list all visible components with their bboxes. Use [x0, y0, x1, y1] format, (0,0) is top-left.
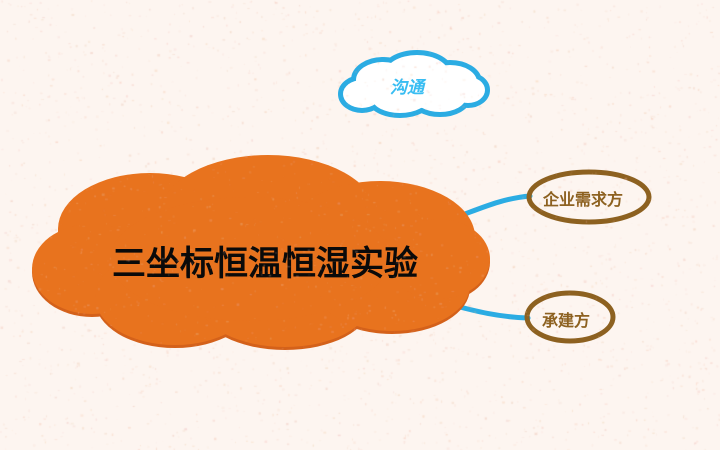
mindmap-diagram [0, 0, 720, 450]
central-node-cloud[interactable] [32, 155, 490, 350]
branch-node-0[interactable] [529, 172, 649, 222]
floating-node-cloud[interactable] [343, 55, 485, 113]
mindmap-canvas: 三坐标恒温恒湿实验 沟通 企业需求方 承建方 [0, 0, 720, 450]
branch-ellipse-1 [527, 293, 613, 341]
branch-ellipse-0 [529, 172, 649, 222]
branch-node-1[interactable] [527, 293, 613, 341]
